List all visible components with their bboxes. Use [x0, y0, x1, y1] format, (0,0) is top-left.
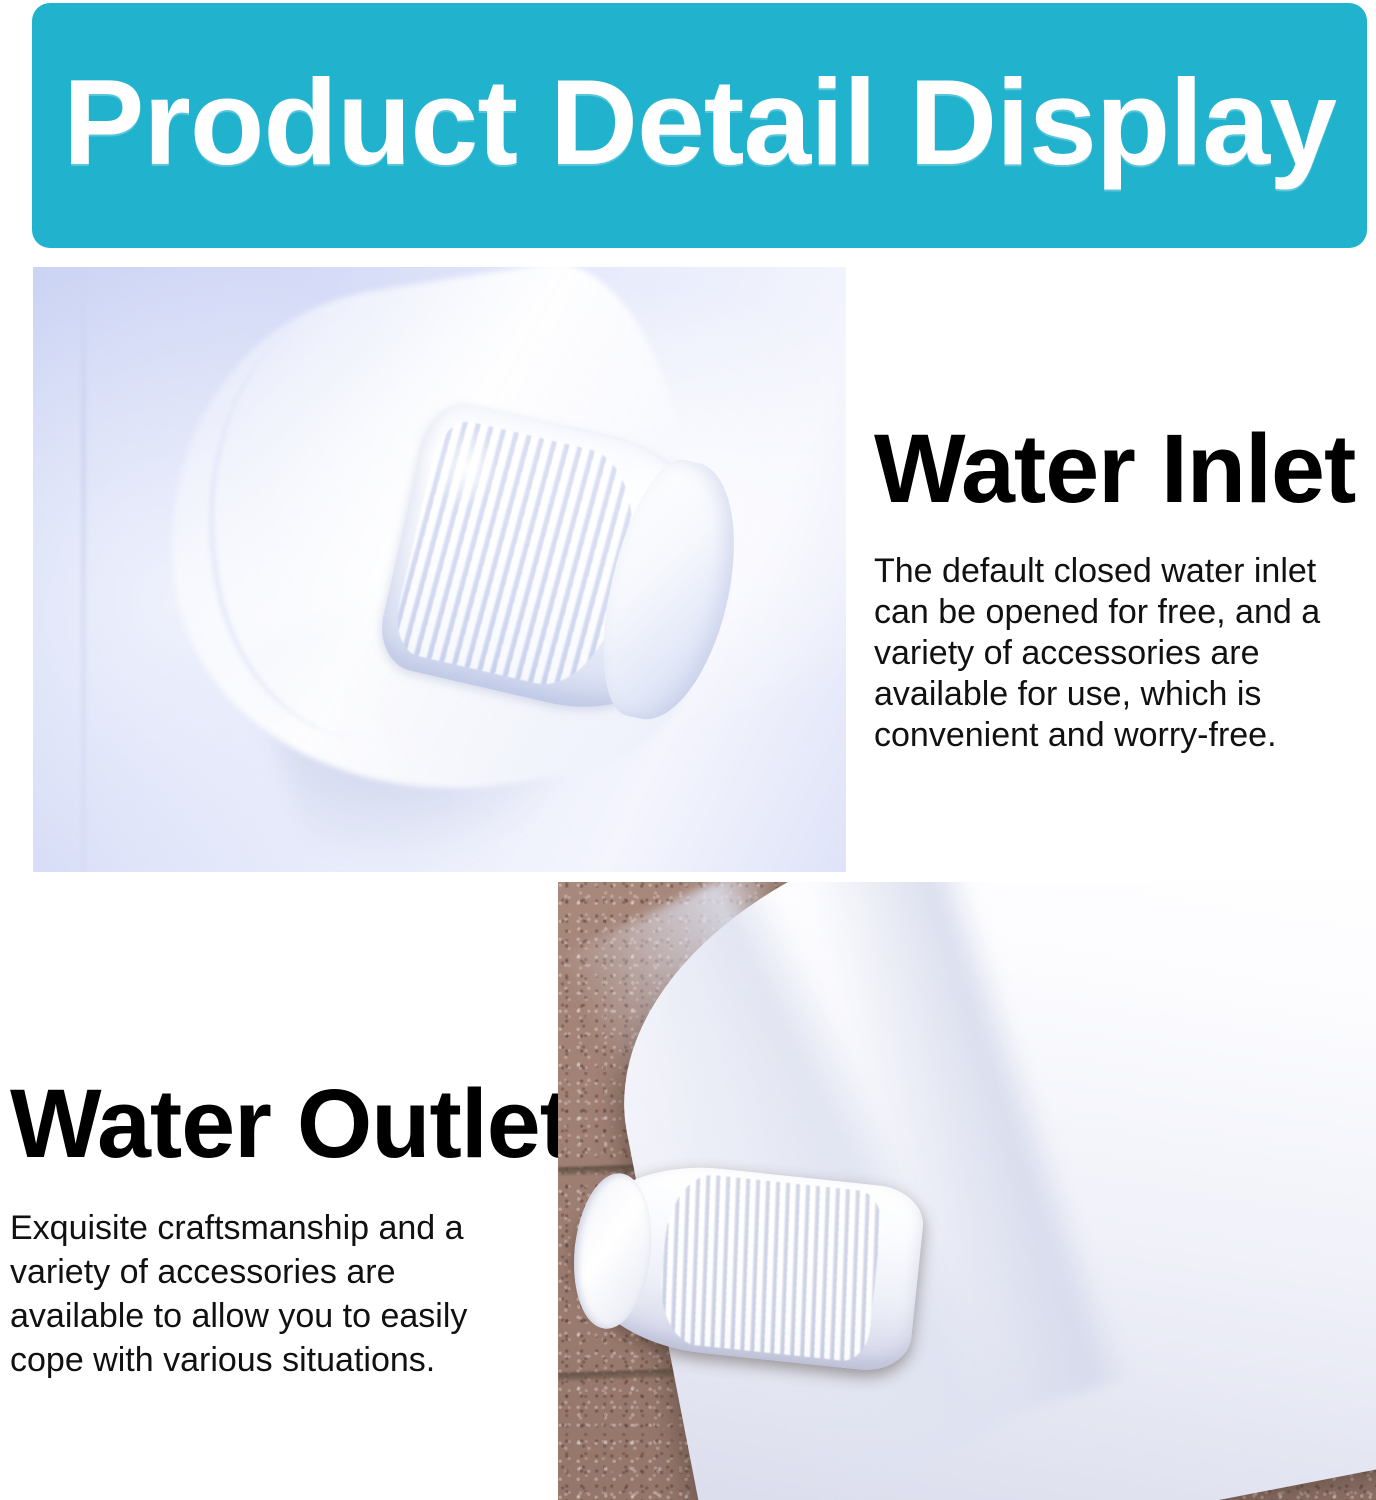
water-outlet-description: Exquisite craftsmanship and a variety of… — [10, 1206, 510, 1382]
product-detail-page: Product Detail Display Water Inlet The d… — [0, 0, 1376, 1500]
water-inlet-description: The default closed water inlet can be op… — [874, 551, 1372, 756]
water-outlet-photo — [558, 882, 1376, 1500]
water-outlet-text-block: Water Outlet Exquisite craftsmanship and… — [10, 1075, 510, 1382]
outlet-spout-threads — [655, 1172, 885, 1364]
header-banner: Product Detail Display — [32, 3, 1367, 248]
inlet-wall-seam — [82, 267, 85, 872]
water-inlet-heading: Water Inlet — [874, 420, 1372, 517]
page-title: Product Detail Display — [63, 61, 1336, 183]
water-inlet-photo — [33, 267, 846, 872]
water-inlet-text-block: Water Inlet The default closed water inl… — [874, 420, 1372, 756]
outlet-spout — [566, 1155, 927, 1375]
water-outlet-heading: Water Outlet — [10, 1075, 510, 1172]
